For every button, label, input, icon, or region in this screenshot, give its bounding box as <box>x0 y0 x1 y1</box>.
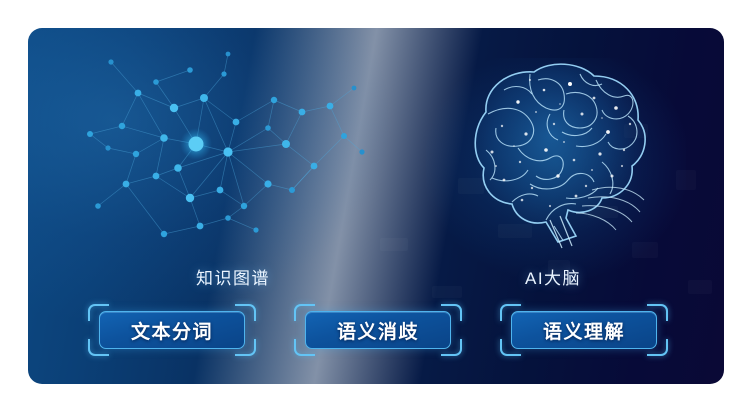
button-label: 语义理解 <box>543 317 625 344</box>
network-graph-icon <box>78 48 368 253</box>
corner-bracket-top-left-icon <box>88 304 109 321</box>
corner-bracket-bottom-right-icon <box>647 339 668 356</box>
corner-bracket-top-right-icon <box>441 304 462 321</box>
corner-bracket-top-right-icon <box>235 304 256 321</box>
corner-bracket-bottom-left-icon <box>500 339 521 356</box>
button-text-segmentation[interactable]: 文本分词 <box>88 304 256 356</box>
screenshot-stage: 知识图谱 AI大脑 文本分词 语义消歧 <box>0 0 752 411</box>
corner-bracket-top-left-icon <box>500 304 521 321</box>
decor-block <box>380 238 408 251</box>
decor-block <box>676 170 696 190</box>
button-semantic-disambiguation[interactable]: 语义消歧 <box>294 304 462 356</box>
corner-bracket-bottom-right-icon <box>441 339 462 356</box>
hero-card: 知识图谱 AI大脑 文本分词 语义消歧 <box>28 28 724 384</box>
button-label: 语义消歧 <box>337 317 419 344</box>
caption-knowledge-graph: 知识图谱 <box>196 264 270 289</box>
corner-bracket-bottom-left-icon <box>88 339 109 356</box>
decor-block <box>688 280 712 294</box>
caption-ai-brain: AI大脑 <box>525 264 581 289</box>
corner-bracket-top-left-icon <box>294 304 315 321</box>
button-semantic-understanding[interactable]: 语义理解 <box>500 304 668 356</box>
corner-bracket-bottom-left-icon <box>294 339 315 356</box>
corner-bracket-bottom-right-icon <box>235 339 256 356</box>
button-label: 文本分词 <box>131 317 213 344</box>
decor-block <box>432 286 462 298</box>
capability-button-row: 文本分词 语义消歧 语义理解 <box>88 300 668 360</box>
corner-bracket-top-right-icon <box>647 304 668 321</box>
brain-icon <box>426 50 676 250</box>
